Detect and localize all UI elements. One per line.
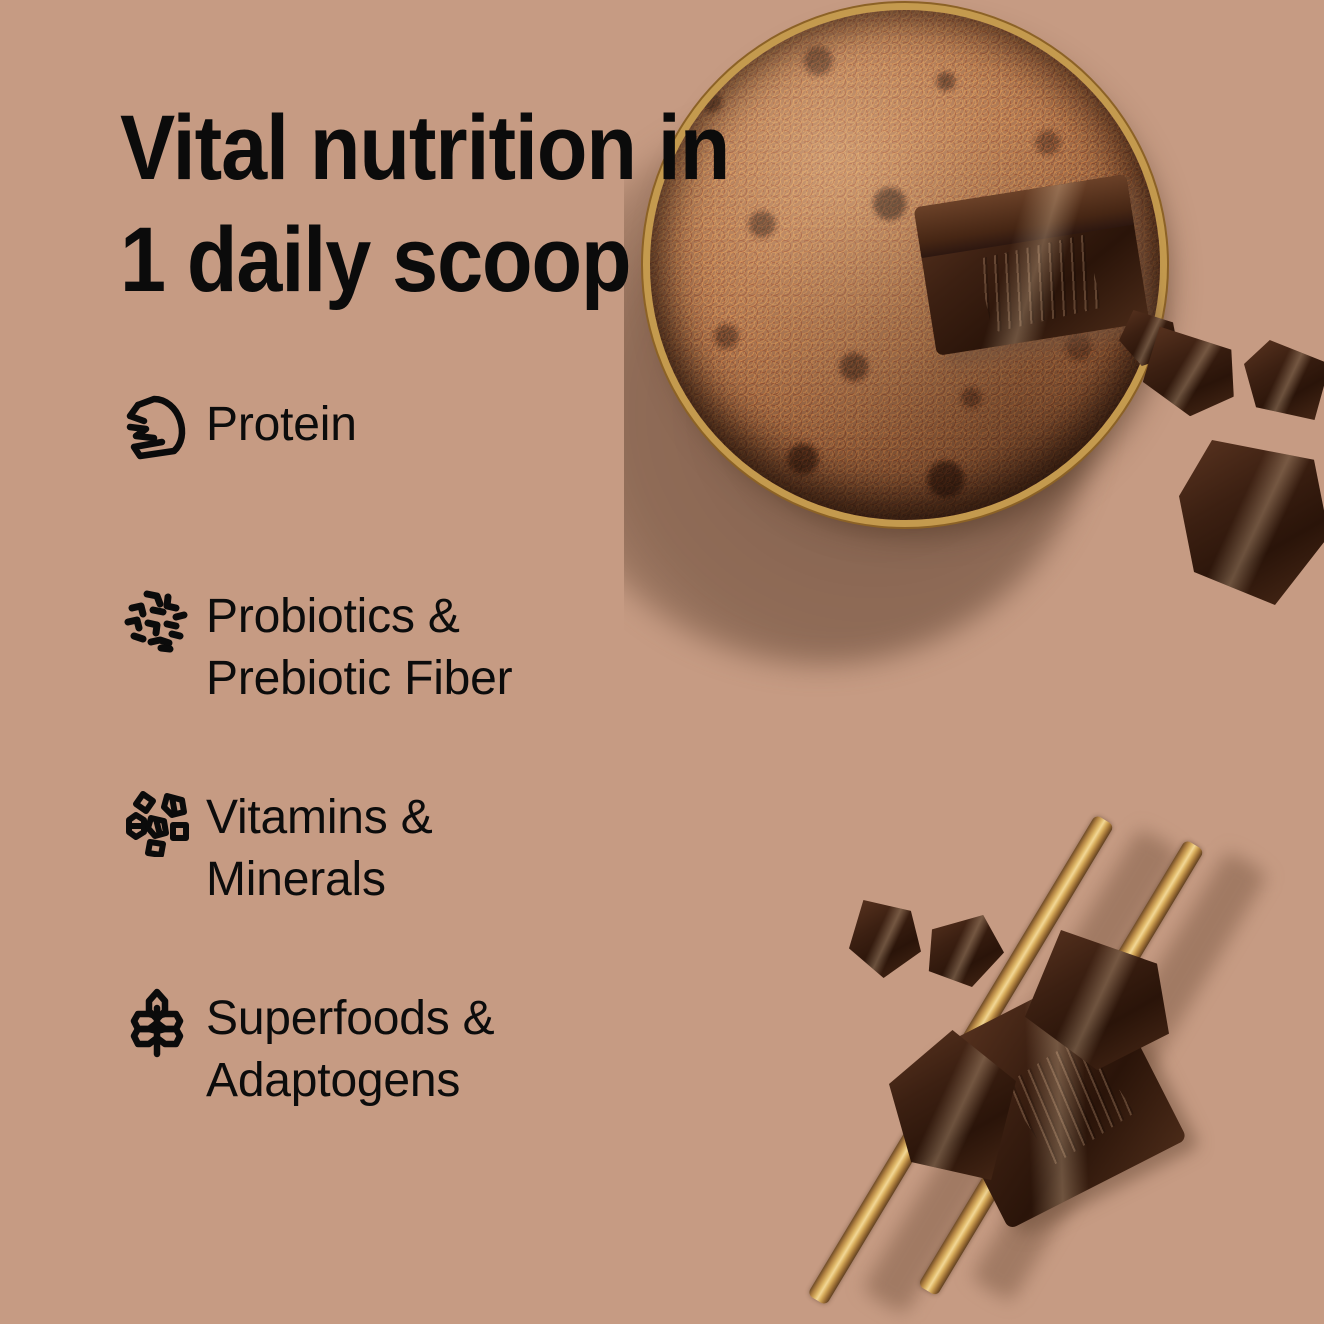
vitamin-minerals-icon [120, 785, 206, 863]
feature-item-probiotics: Probiotics & Prebiotic Fiber [120, 584, 710, 711]
bacteria-cluster-icon [120, 584, 206, 662]
feature-list: Protein Probio [120, 392, 710, 1112]
product-feature-card: Vital nutrition in 1 daily scoop Protein [0, 0, 1324, 1324]
feature-label: Superfoods & Adaptogens [206, 986, 710, 1113]
feature-item-vitamins: Vitamins & Minerals [120, 785, 710, 912]
feature-label: Vitamins & Minerals [206, 785, 710, 912]
chocolate-shard [1244, 340, 1324, 420]
feature-item-superfoods: Superfoods & Adaptogens [120, 986, 710, 1113]
chocolate-shard [924, 915, 1004, 987]
feature-item-protein: Protein [120, 392, 710, 488]
flexed-bicep-icon [120, 392, 206, 470]
page-title: Vital nutrition in 1 daily scoop [120, 92, 804, 316]
chocolate-shard [849, 900, 921, 978]
feature-label: Protein [206, 392, 710, 456]
wheat-stalk-icon [120, 986, 206, 1064]
feature-label: Probiotics & Prebiotic Fiber [206, 584, 710, 711]
chocolate-shard [1179, 440, 1324, 605]
